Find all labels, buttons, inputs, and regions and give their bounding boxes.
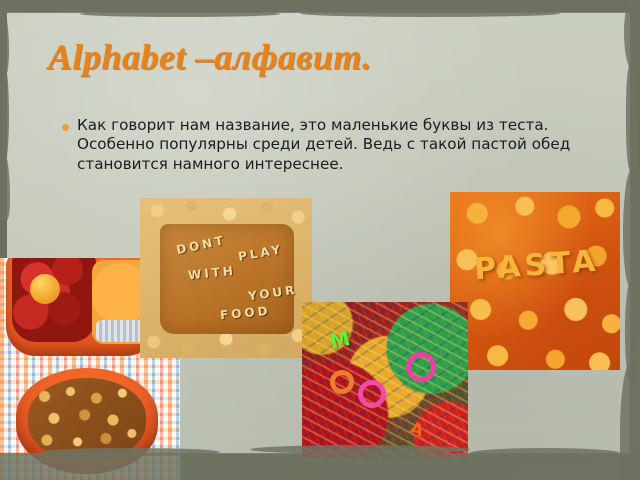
photo-rainbow-coloured-pasta: M A xyxy=(302,302,468,458)
presentation-slide: Alphabet –алфавит. Как говорит нам назва… xyxy=(0,0,640,480)
torn-edge-bottom-nibble-1 xyxy=(40,448,220,456)
orange-pasta-ring xyxy=(330,370,354,394)
torn-edge-right-nibble-2 xyxy=(626,62,638,172)
bullet-point-icon xyxy=(62,124,69,131)
yellow-tomato xyxy=(30,274,60,304)
body-bullet-item: Как говорит нам название, это маленькие … xyxy=(62,116,592,174)
torn-edge-top-nibble-2 xyxy=(300,10,560,17)
torn-edge-bottom-nibble-2 xyxy=(250,445,470,454)
pasta-strands-texture xyxy=(302,302,468,458)
torn-edge-right-nibble-3 xyxy=(623,168,640,288)
slide-title: Alphabet –алфавит. xyxy=(48,36,372,78)
torn-edge-bottom-nibble-3 xyxy=(470,448,620,458)
torn-edge-left-nibble-2 xyxy=(2,70,9,160)
body-text: Как говорит нам название, это маленькие … xyxy=(77,116,592,174)
torn-edge-top-nibble-1 xyxy=(80,11,280,17)
torn-edge-right-nibble-1 xyxy=(624,0,640,70)
pink-pasta-ring-1 xyxy=(406,352,436,382)
photo-alphabet-cookie-message: DONT PLAY WITH YOUR FOOD xyxy=(140,198,312,358)
photo-alphabet-pasta-tomato-sauce: PASTA xyxy=(450,192,620,370)
pink-pasta-ring-2 xyxy=(358,380,386,408)
